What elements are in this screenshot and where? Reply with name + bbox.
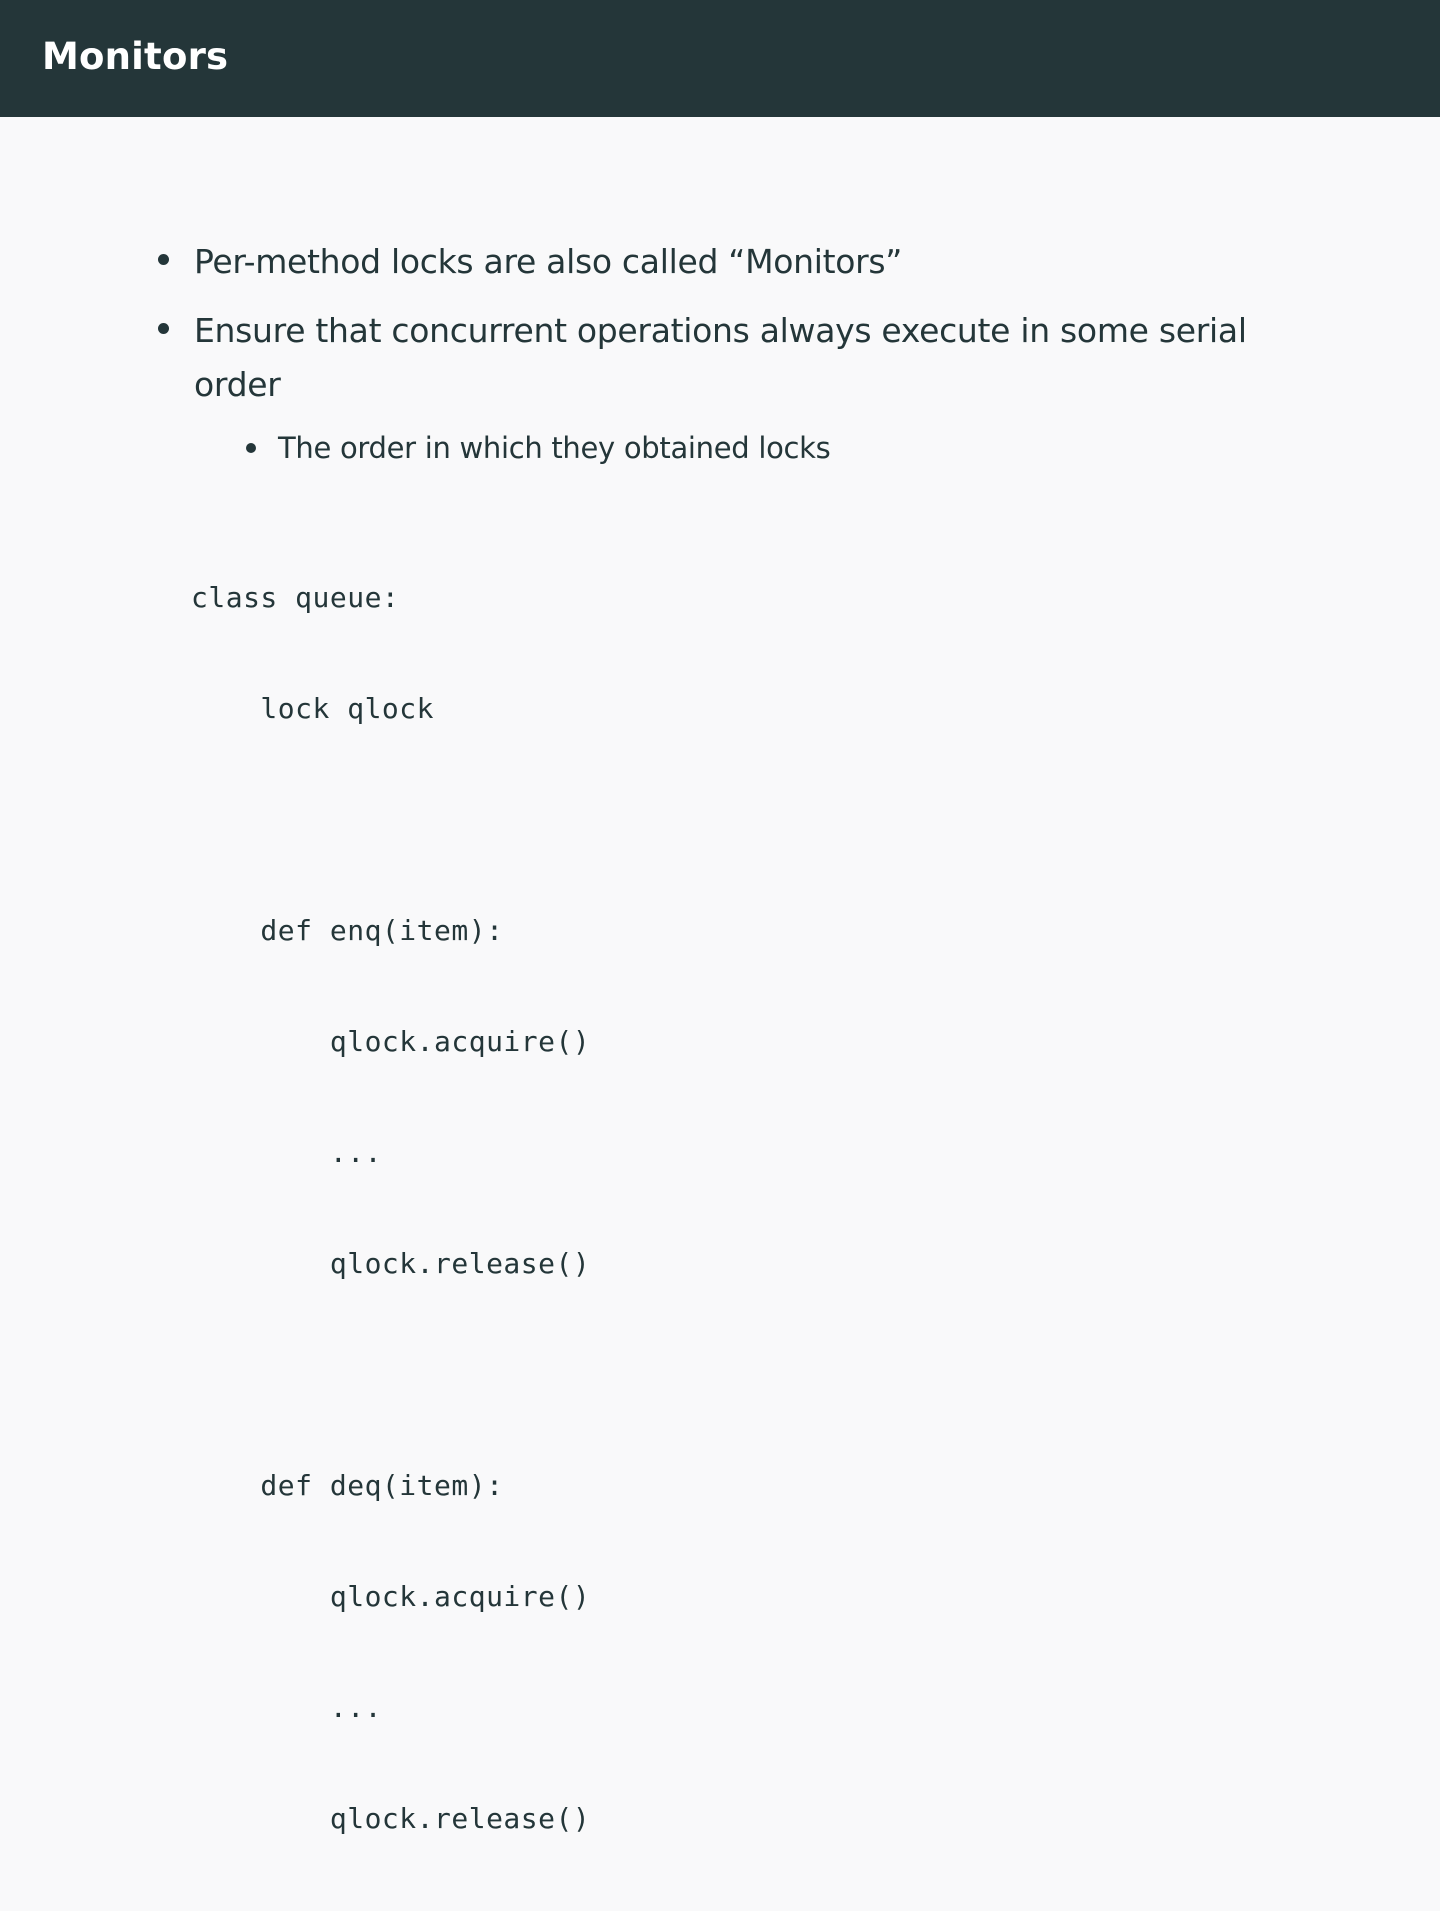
code-line-blank: [191, 801, 590, 838]
list-item-label: The order in which they obtained locks: [278, 427, 1278, 471]
page-title: Monitors: [42, 38, 228, 79]
code-line: class queue:: [191, 579, 590, 616]
code-line: qlock.release(): [191, 1800, 590, 1837]
code-line: qlock.release(): [191, 1245, 590, 1282]
code-line: def enq(item):: [191, 912, 590, 949]
code-line-blank: [191, 1356, 590, 1393]
code-line: qlock.acquire(): [191, 1578, 590, 1615]
bullet-list: Per-method locks are also called “Monito…: [158, 235, 1278, 487]
code-line: def deq(item):: [191, 1467, 590, 1504]
code-line: ...: [191, 1134, 590, 1171]
list-item-label: Per-method locks are also called “Monito…: [194, 235, 1259, 288]
code-line: ...: [191, 1689, 590, 1726]
code-line: qlock.acquire(): [191, 1023, 590, 1060]
bullet-dot-icon: [158, 254, 169, 265]
list-item: Ensure that concurrent operations always…: [158, 304, 1278, 411]
slide-header-bar: Monitors: [0, 0, 1440, 117]
code-line: lock qlock: [191, 690, 590, 727]
bullet-dot-icon: [246, 443, 256, 453]
list-item-label: Ensure that concurrent operations always…: [194, 304, 1259, 411]
list-item: Per-method locks are also called “Monito…: [158, 235, 1278, 288]
slide-content: Per-method locks are also called “Monito…: [0, 117, 1440, 1080]
sub-bullet-list: The order in which they obtained locks: [246, 427, 1278, 471]
list-item: The order in which they obtained locks: [246, 427, 1278, 471]
slide: Monitors Per-method locks are also calle…: [0, 0, 1440, 1080]
code-block: class queue: lock qlock def enq(item): q…: [191, 505, 590, 1911]
bullet-dot-icon: [158, 323, 169, 334]
